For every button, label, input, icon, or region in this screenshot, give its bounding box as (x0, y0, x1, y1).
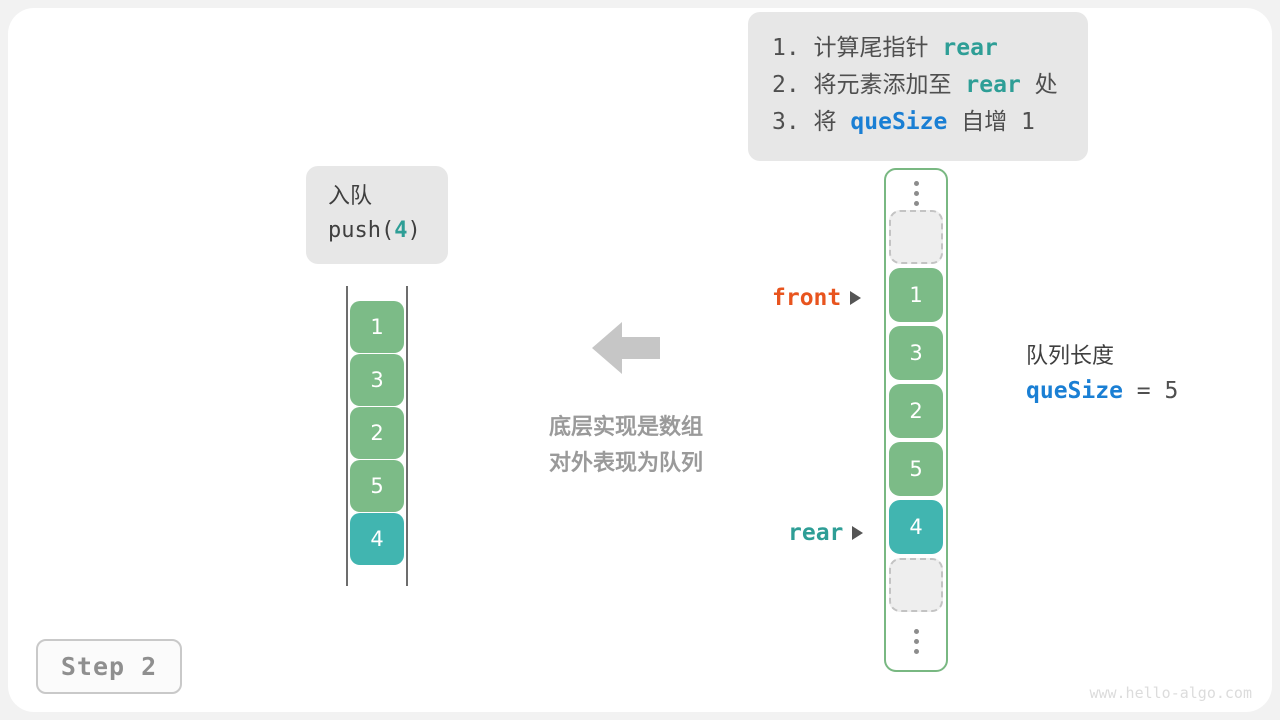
dot (914, 649, 919, 654)
queue-cell: 2 (350, 407, 404, 459)
operation-call-arg: 4 (394, 218, 407, 243)
center-caption: 底层实现是数组 对外表现为队列 (528, 410, 724, 482)
note-step-1-number: 1. (772, 35, 800, 61)
array-cell-list: 1 3 2 5 4 (889, 210, 943, 616)
queue-cell-new: 4 (350, 513, 404, 565)
front-pointer: front (772, 285, 861, 311)
diagram-canvas: 1. 计算尾指针 rear 2. 将元素添加至 rear 处 3. 将 queS… (0, 0, 1280, 720)
dot (914, 181, 919, 186)
note-step-3-number: 3. (772, 109, 800, 135)
note-step-2-text-before: 将元素添加至 (800, 72, 966, 98)
note-step-3-code: queSize (850, 109, 947, 135)
array-cell-empty (889, 210, 943, 264)
note-step-2-code: rear (965, 72, 1020, 98)
quesize-var-name: queSize (1026, 378, 1123, 404)
operation-call-prefix: push( (328, 218, 394, 243)
note-step-3: 3. 将 queSize 自增 1 (772, 104, 1064, 141)
array-cell: 2 (889, 384, 943, 438)
arrow-right-icon (852, 526, 863, 540)
operation-steps-note: 1. 计算尾指针 rear 2. 将元素添加至 rear 处 3. 将 queS… (748, 12, 1088, 161)
quesize-expression: queSize = 5 (1026, 374, 1178, 408)
quesize-annotation: 队列长度 queSize = 5 (1026, 340, 1178, 408)
queue-rail-right (406, 286, 408, 586)
queue-cell: 5 (350, 460, 404, 512)
dot (914, 639, 919, 644)
ellipsis-bottom-icon (886, 618, 946, 664)
note-step-3-text-after: 自增 1 (947, 109, 1035, 135)
rear-pointer: rear (788, 520, 863, 546)
arrow-right-icon (850, 291, 861, 305)
queue-abstract-view: 1 3 2 5 4 (346, 286, 408, 586)
rear-pointer-label: rear (788, 520, 843, 546)
note-step-2-number: 2. (772, 72, 800, 98)
array-cell: 3 (889, 326, 943, 380)
queue-cell-list: 1 3 2 5 4 (350, 301, 404, 566)
array-cell-empty (889, 558, 943, 612)
note-step-1-text-before: 计算尾指针 (800, 35, 943, 61)
left-arrow-icon (592, 320, 660, 380)
dot (914, 629, 919, 634)
array-cell: 1 (889, 268, 943, 322)
note-step-2-text-after: 处 (1021, 72, 1058, 98)
note-step-3-text-before: 将 (800, 109, 851, 135)
dot (914, 191, 919, 196)
operation-call-suffix: ) (407, 218, 420, 243)
center-caption-line-2: 对外表现为队列 (528, 446, 724, 482)
front-pointer-label: front (772, 285, 841, 311)
quesize-equals: = (1123, 378, 1165, 404)
note-step-1: 1. 计算尾指针 rear (772, 30, 1064, 67)
operation-label-box: 入队 push(4) (306, 166, 448, 264)
quesize-value: 5 (1164, 378, 1178, 404)
array-implementation-view: 1 3 2 5 4 (884, 168, 948, 672)
queue-cell: 1 (350, 301, 404, 353)
note-step-1-code: rear (942, 35, 997, 61)
operation-call: push(4) (328, 214, 428, 248)
note-step-2: 2. 将元素添加至 rear 处 (772, 67, 1064, 104)
quesize-label: 队列长度 (1026, 340, 1178, 374)
center-caption-line-1: 底层实现是数组 (528, 410, 724, 446)
array-cell-new: 4 (889, 500, 943, 554)
dot (914, 201, 919, 206)
queue-cell: 3 (350, 354, 404, 406)
queue-rail-left (346, 286, 348, 586)
step-badge: Step 2 (36, 639, 182, 694)
operation-title: 入队 (328, 180, 428, 214)
array-cell: 5 (889, 442, 943, 496)
watermark: www.hello-algo.com (1089, 684, 1252, 702)
